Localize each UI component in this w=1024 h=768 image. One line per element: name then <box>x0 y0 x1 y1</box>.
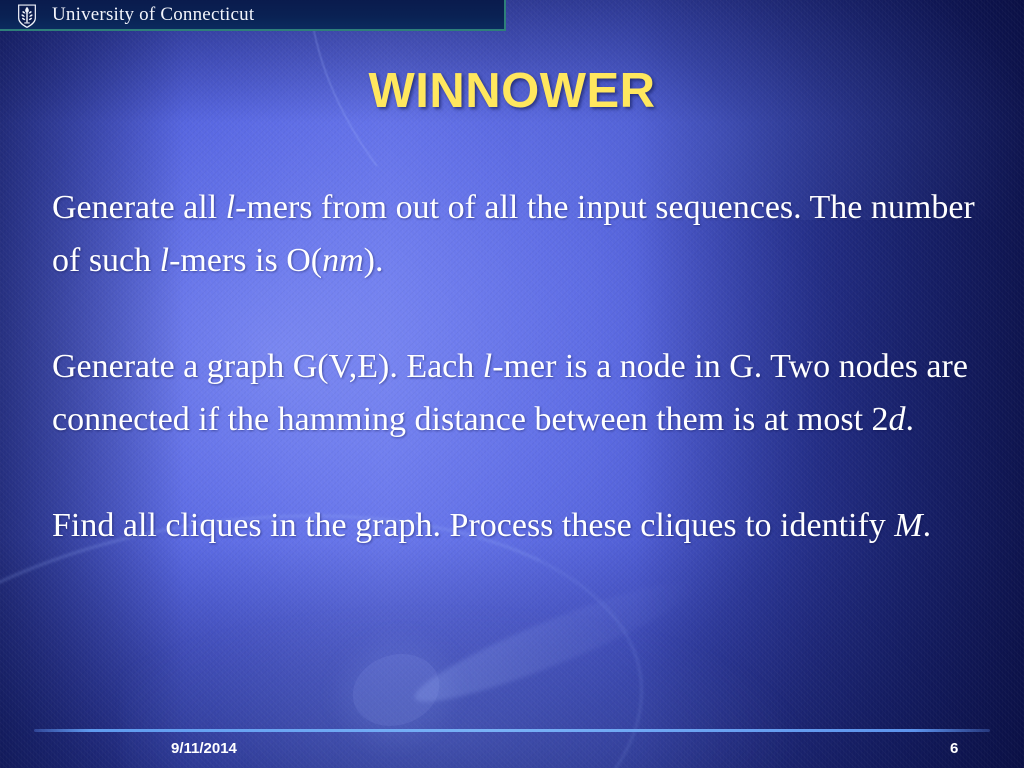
body-paragraph-3: Find all cliques in the graph. Process t… <box>52 499 997 552</box>
italic-variable: nm <box>322 242 364 279</box>
italic-variable: l <box>483 348 492 385</box>
footer-date: 9/11/2014 <box>171 740 237 757</box>
italic-variable: l <box>160 242 169 279</box>
text-run: . <box>923 507 932 544</box>
slide-body-content: Generate all l-mers from out of all the … <box>52 181 997 552</box>
italic-variable: l <box>226 189 235 226</box>
paragraph-spacer <box>52 446 997 499</box>
slide-title: WINNOWER <box>0 63 1024 119</box>
text-run: Generate a graph G(V,E). Each <box>52 348 483 385</box>
body-paragraph-1: Generate all l-mers from out of all the … <box>52 181 997 287</box>
text-run: -mers is O( <box>169 242 322 279</box>
text-run: ). <box>364 242 384 279</box>
uconn-oak-shield-icon <box>14 2 40 28</box>
text-run: Generate all <box>52 189 226 226</box>
paragraph-spacer <box>52 287 997 340</box>
footer-divider-line <box>34 729 990 732</box>
presentation-slide: University of Connecticut WINNOWER Gener… <box>0 0 1024 768</box>
text-run: . <box>906 401 915 438</box>
italic-variable: M <box>894 507 922 544</box>
university-wordmark: University of Connecticut <box>52 4 254 26</box>
body-paragraph-2: Generate a graph G(V,E). Each l-mer is a… <box>52 340 997 446</box>
italic-variable: d <box>889 401 906 438</box>
text-run: Find all cliques in the graph. Process t… <box>52 507 894 544</box>
university-header-bar: University of Connecticut <box>0 0 506 31</box>
footer-page-number: 6 <box>950 740 958 757</box>
